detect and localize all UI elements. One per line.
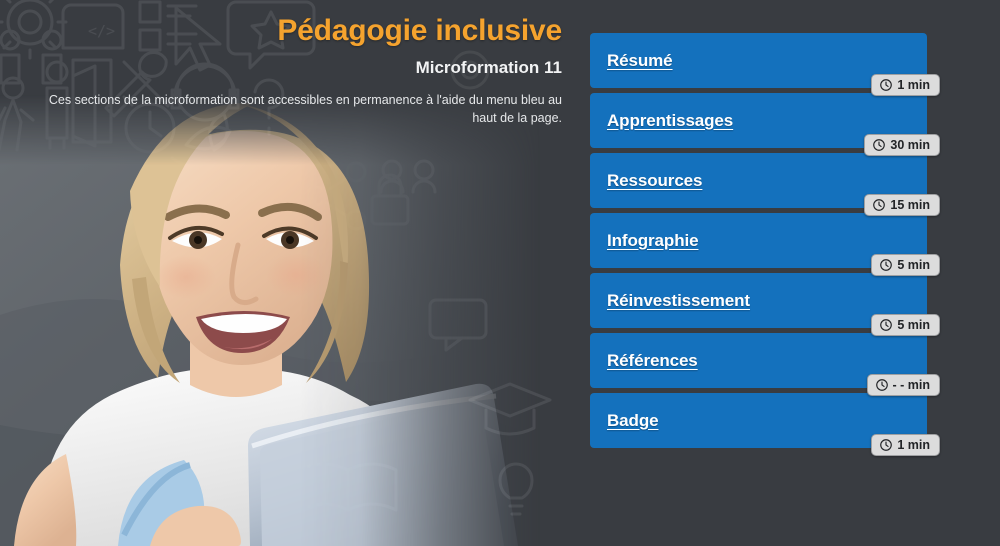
duration-badge: 15 min xyxy=(864,194,940,216)
section-label: Ressources xyxy=(607,171,702,191)
section-label: Badge xyxy=(607,411,658,431)
section-item: Infographie 5 min xyxy=(590,213,940,268)
section-label: Résumé xyxy=(607,51,673,71)
section-item: Références - - min xyxy=(590,333,940,388)
section-item: Ressources 15 min xyxy=(590,153,940,208)
section-item: Apprentissages 30 min xyxy=(590,93,940,148)
duration-badge: 1 min xyxy=(871,434,940,456)
duration-text: 15 min xyxy=(890,199,930,212)
clock-icon xyxy=(879,258,893,272)
duration-text: 30 min xyxy=(890,139,930,152)
duration-text: 1 min xyxy=(897,79,930,92)
section-label: Références xyxy=(607,351,698,371)
clock-icon xyxy=(872,138,886,152)
duration-badge: 5 min xyxy=(871,254,940,276)
duration-text: 5 min xyxy=(897,319,930,332)
page-title: Pédagogie inclusive xyxy=(30,14,562,49)
clock-icon xyxy=(872,198,886,212)
clock-icon xyxy=(879,78,893,92)
section-item: Résumé 1 min xyxy=(590,33,940,88)
duration-text: - - min xyxy=(893,379,931,392)
section-menu: Résumé 1 min Apprentissages 30 min xyxy=(590,33,940,453)
section-label: Réinvestissement xyxy=(607,291,750,311)
section-item: Réinvestissement 5 min xyxy=(590,273,940,328)
duration-badge: 1 min xyxy=(871,74,940,96)
hero-banner: </> xyxy=(0,0,1000,546)
duration-badge: 30 min xyxy=(864,134,940,156)
hero-text-column: Pédagogie inclusive Microformation 11 Ce… xyxy=(30,14,562,127)
clock-icon xyxy=(875,378,889,392)
duration-badge: 5 min xyxy=(871,314,940,336)
page-description: Ces sections de la microformation sont a… xyxy=(30,91,562,127)
clock-icon xyxy=(879,318,893,332)
section-label: Apprentissages xyxy=(607,111,733,131)
duration-text: 1 min xyxy=(897,439,930,452)
section-item: Badge 1 min xyxy=(590,393,940,448)
section-label: Infographie xyxy=(607,231,698,251)
duration-text: 5 min xyxy=(897,259,930,272)
page-subtitle: Microformation 11 xyxy=(30,58,562,78)
duration-badge: - - min xyxy=(867,374,941,396)
clock-icon xyxy=(879,438,893,452)
learner-photo xyxy=(0,95,560,546)
